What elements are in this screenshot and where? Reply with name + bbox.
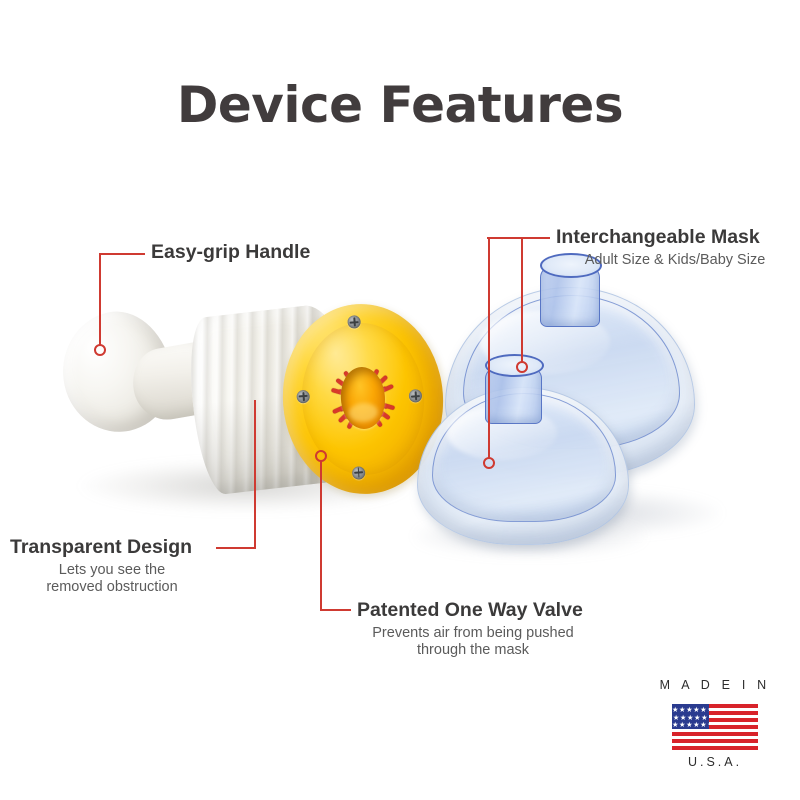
callout-one-way-valve-subtext-line1: Prevents air from being pushed [357,624,589,642]
leader-easy-grip-vertical [99,253,101,346]
leader-mask-branch-left [488,237,490,459]
callout-transparent-design-subtext-line2: removed obstruction [10,578,214,596]
marker-mask-adult [516,361,528,373]
leader-mask-horizontal [487,237,550,239]
callout-transparent-design-subtext-line1: Lets you see the [10,561,214,579]
callout-one-way-valve-subtext-line2: through the mask [357,641,589,659]
leader-valve-vertical [320,461,322,610]
leader-mask-branch-right [521,237,523,363]
flag-stripe [672,739,758,743]
flag-stripe [672,746,758,750]
us-flag-icon: ★★★★★★ ★★★★★ ★★★★★★ [672,704,758,750]
made-in-label: M A D E I N [640,678,790,692]
marker-mask-kids [483,457,495,469]
marker-easy-grip-handle [94,344,106,356]
product-masks-illustration [425,275,785,565]
mask-kids-port-opening [485,354,544,377]
callout-one-way-valve-headline: Patented One Way Valve [357,600,583,621]
leader-valve-horizontal [320,609,351,611]
flag-canton: ★★★★★★ ★★★★★ ★★★★★★ [672,704,709,729]
leader-transparent-vertical [254,400,256,548]
callout-transparent-design-headline: Transparent Design [10,537,192,558]
marker-one-way-valve [315,450,327,462]
flag-star-row: ★★★★★★ [672,721,709,728]
infographic-canvas: Device Features [0,0,800,800]
callout-interchangeable-mask-headline: Interchangeable Mask [556,227,760,248]
mask-kids [417,387,629,545]
leader-easy-grip-horizontal [99,253,145,255]
flag-stripe [672,732,758,736]
made-in-usa-badge: M A D E I N ★★★★★★ ★★★★★ ★★★★★★ U.S.A. [640,678,790,774]
callout-interchangeable-mask-subtext: Adult Size & Kids/Baby Size [556,251,794,269]
leader-transparent-horizontal [216,547,256,549]
usa-label: U.S.A. [640,755,790,769]
callout-easy-grip-handle-headline: Easy-grip Handle [151,242,310,263]
page-title: Device Features [0,76,800,134]
valve-screw-bottom [352,466,366,480]
